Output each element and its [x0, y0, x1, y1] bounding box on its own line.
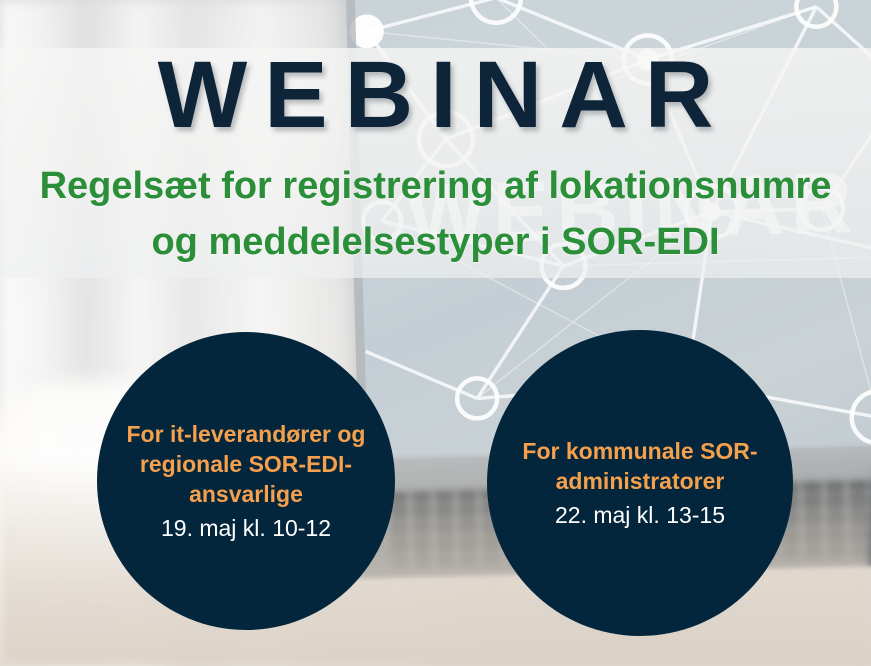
session-audience-label: For kommunale SOR-administratorer: [511, 436, 769, 496]
webinar-poster: WEBINAR: [0, 0, 871, 666]
session-circle-left[interactable]: For it-leverandører og regionale SOR-EDI…: [97, 332, 395, 630]
subtitle-line-2: og meddelelsestyper i SOR-EDI: [14, 214, 857, 270]
session-datetime: 22. maj kl. 13-15: [555, 500, 725, 530]
session-audience-label: For it-leverandører og regionale SOR-EDI…: [119, 419, 373, 509]
subtitle-line-1: Regelsæt for registrering af lokationsnu…: [40, 165, 832, 207]
session-circle-right[interactable]: For kommunale SOR-administratorer 22. ma…: [487, 330, 793, 636]
page-subtitle: Regelsæt for registrering af lokationsnu…: [14, 158, 857, 270]
page-title: WEBINAR: [0, 47, 871, 143]
session-datetime: 19. maj kl. 10-12: [161, 513, 331, 543]
